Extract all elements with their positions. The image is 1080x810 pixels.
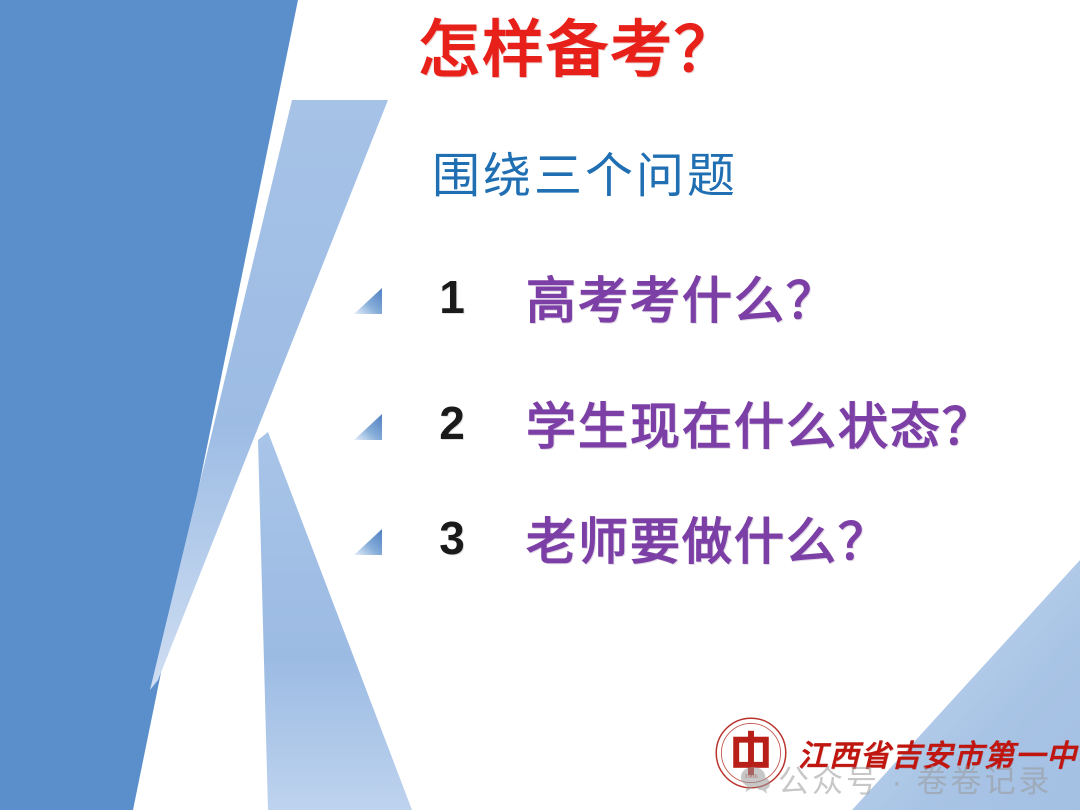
school-branding: 1906 江西省吉安市第一中学 [714,716,1080,790]
triangle-bullet-icon [352,412,382,442]
svg-text:1906: 1906 [744,773,758,780]
question-text: 老师要做什么？ [526,502,890,574]
triangle-bullet-icon [352,527,382,557]
list-item[interactable]: 1 高考考什么？ [352,262,838,332]
triangle-bullet-icon [352,286,382,316]
slide-subtitle: 围绕三个问题 [432,148,738,206]
question-text: 学生现在什么状态？ [526,387,994,459]
question-number: 1 [434,270,470,324]
presentation-slide: 怎样备考？ 围绕三个问题 1 高考考什么？ 2 学生现在什么状态？ [0,0,1080,810]
question-number: 3 [434,511,470,565]
school-name-label: 江西省吉安市第一中学 [798,731,1080,775]
slide-content: 怎样备考？ 围绕三个问题 1 高考考什么？ 2 学生现在什么状态？ [0,0,1080,810]
list-item[interactable]: 3 老师要做什么？ [352,503,890,573]
page-title: 怎样备考？ [418,14,738,88]
school-emblem-icon: 1906 [714,716,788,790]
question-number: 2 [434,396,470,450]
list-item[interactable]: 2 学生现在什么状态？ [352,388,994,458]
question-text: 高考考什么？ [526,261,838,333]
